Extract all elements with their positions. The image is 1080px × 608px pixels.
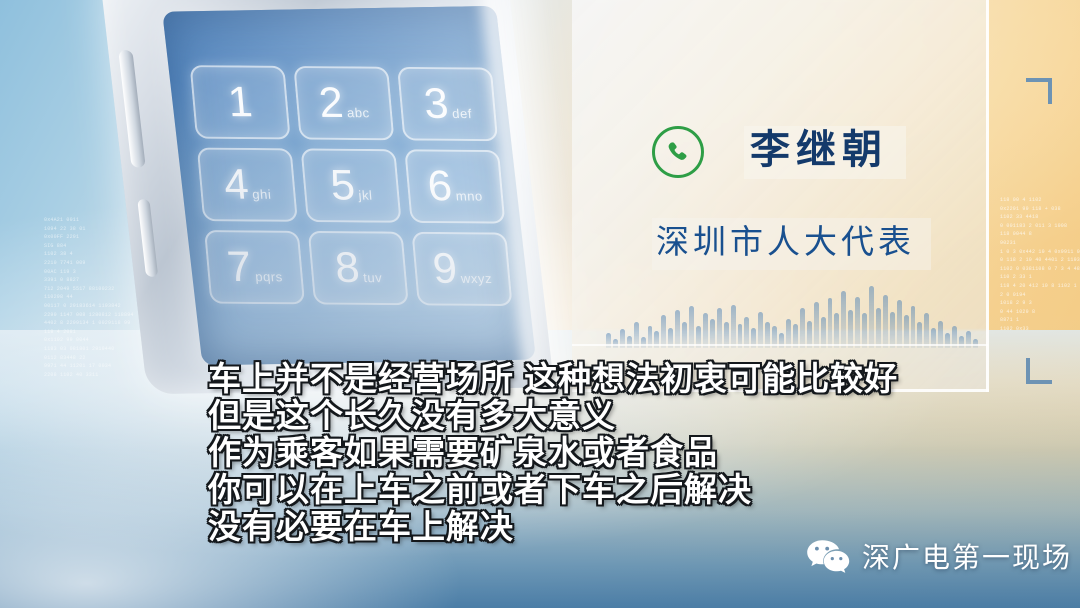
waveform-bar xyxy=(869,286,874,348)
waveform-bar xyxy=(641,337,646,348)
keypad-key-4: 4ghi xyxy=(197,148,298,222)
phone-screen: 12abc3def4ghi5jkl6mno7pqrs8tuv9wxyz xyxy=(162,6,536,366)
waveform-bar xyxy=(848,310,853,348)
waveform-bar xyxy=(800,308,805,348)
waveform-baseline xyxy=(572,344,988,346)
waveform-bar xyxy=(876,308,881,348)
keypad-digit: 9 xyxy=(431,247,459,290)
phone-handset-icon xyxy=(652,126,704,178)
caller-name-plate: 李继朝 xyxy=(744,126,906,179)
waveform-bar xyxy=(717,308,722,348)
keypad-letters: tuv xyxy=(363,270,383,285)
audio-waveform xyxy=(606,286,978,348)
waveform-bar xyxy=(897,300,902,348)
waveform-bar xyxy=(959,336,964,348)
keypad-digit: 7 xyxy=(225,246,253,289)
subtitle-block: 车上并不是经营场所 这种想法初衷可能比较好但是这个长久没有多大意义作为乘客如果需… xyxy=(208,360,1008,545)
caller-title: 深圳市人大代表 xyxy=(656,222,915,262)
keypad-key-7: 7pqrs xyxy=(204,230,305,304)
keypad-digit: 5 xyxy=(329,164,357,207)
waveform-bar xyxy=(675,310,680,348)
keypad-key-9: 9wxyz xyxy=(411,232,512,306)
subtitle-line: 你可以在上车之前或者下车之后解决 xyxy=(208,471,1008,508)
subtitle-line: 车上并不是经营场所 这种想法初衷可能比较好 xyxy=(208,360,1008,397)
keypad-key-6: 6mno xyxy=(404,149,505,223)
caller-title-plate: 深圳市人大代表 xyxy=(652,218,931,270)
keypad-digit: 2 xyxy=(317,82,345,125)
waveform-bar xyxy=(828,298,833,348)
keypad-key-2: 2abc xyxy=(293,66,394,140)
keypad-digit: 4 xyxy=(222,163,250,206)
keypad-letters: def xyxy=(451,106,472,121)
keypad-letters: wxyz xyxy=(460,270,492,285)
waveform-bar xyxy=(862,313,867,348)
keypad-letters: jkl xyxy=(358,187,373,202)
wechat-icon xyxy=(806,539,850,573)
waveform-bar xyxy=(924,313,929,348)
keypad-digit: 1 xyxy=(226,81,254,124)
phone-keypad: 12abc3def4ghi5jkl6mno7pqrs8tuv9wxyz xyxy=(190,65,513,306)
keypad-letters: mno xyxy=(455,188,483,203)
phone-graphic: 12abc3def4ghi5jkl6mno7pqrs8tuv9wxyz xyxy=(68,0,593,415)
waveform-bar xyxy=(758,312,763,348)
broadcast-frame: 0x4A21 0011 1094 22 38 01 0x00FF 2291 SI… xyxy=(0,0,1080,608)
waveform-bar xyxy=(703,313,708,348)
corner-bracket-bottom-right-icon xyxy=(1026,358,1052,384)
keypad-digit: 8 xyxy=(333,247,361,290)
waveform-bar xyxy=(834,313,839,348)
keypad-key-5: 5jkl xyxy=(301,148,402,222)
phone-side-button-upper xyxy=(118,50,145,167)
keypad-letters: ghi xyxy=(252,186,272,201)
waveform-bar xyxy=(890,312,895,348)
phone-side-button-lower xyxy=(137,199,158,277)
waveform-bar xyxy=(689,306,694,348)
waveform-bar xyxy=(731,305,736,348)
waveform-bar xyxy=(911,306,916,348)
subtitle-line: 但是这个长久没有多大意义 xyxy=(208,397,1008,434)
corner-bracket-top-right-icon xyxy=(1026,78,1052,104)
phone-body: 12abc3def4ghi5jkl6mno7pqrs8tuv9wxyz xyxy=(99,0,555,394)
keypad-letters: pqrs xyxy=(255,269,284,284)
keypad-digit: 6 xyxy=(426,165,454,208)
caller-name: 李继朝 xyxy=(750,128,888,173)
watermark-text: 深广电第一现场 xyxy=(862,536,1072,576)
caller-name-row: 李继朝 xyxy=(652,126,906,179)
waveform-bar xyxy=(883,295,888,348)
keypad-digit: 3 xyxy=(422,82,450,125)
panel-right-rule xyxy=(986,0,989,392)
waveform-bar xyxy=(814,302,819,349)
waveform-bar xyxy=(855,297,860,348)
subtitle-line: 作为乘客如果需要矿泉水或者食品 xyxy=(208,434,1008,471)
keypad-key-8: 8tuv xyxy=(308,231,409,305)
waveform-bar xyxy=(627,336,632,348)
waveform-bar xyxy=(841,291,846,348)
channel-watermark: 深广电第一现场 xyxy=(806,536,1072,576)
keypad-key-3: 3def xyxy=(397,67,498,141)
keypad-key-1: 1 xyxy=(190,65,291,139)
keypad-letters: abc xyxy=(346,105,370,120)
